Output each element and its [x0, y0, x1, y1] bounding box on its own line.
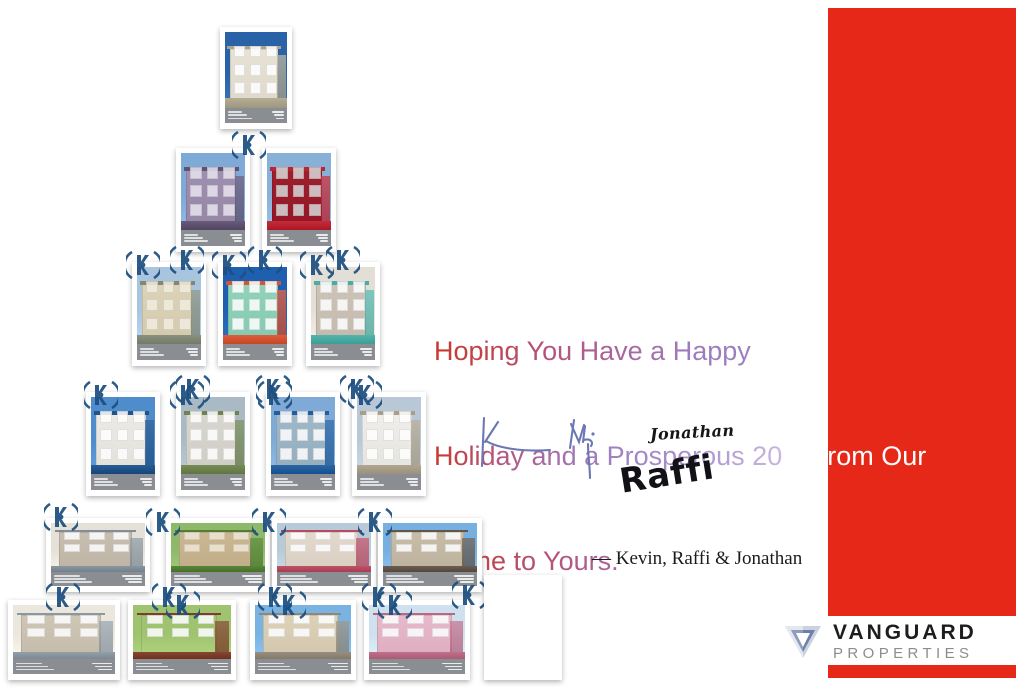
listing-info-bar — [357, 474, 421, 490]
listing-photo — [171, 523, 265, 572]
listing-address-lines — [226, 348, 250, 356]
listing-address-lines — [94, 478, 118, 486]
listing-brand-lines — [442, 663, 462, 671]
listing-info-bar — [181, 474, 245, 490]
listing-photo — [267, 153, 331, 230]
vanguard-emblem-icon — [358, 505, 392, 539]
listing-brand-lines — [328, 663, 348, 671]
listing-address-lines — [140, 348, 164, 356]
listing-photo — [225, 32, 287, 108]
vanguard-emblem-icon — [44, 500, 78, 534]
vanguard-emblem-icon — [378, 588, 412, 622]
listing-brand-lines — [92, 663, 112, 671]
listing-info-bar — [255, 659, 351, 674]
listing-address-lines — [184, 234, 208, 242]
listing-brand-lines — [320, 478, 332, 486]
listing-brand-lines — [230, 234, 242, 242]
listing-brand-lines — [122, 575, 142, 583]
greeting-line-2-red-part: 14 from Our — [782, 441, 926, 471]
listing-photo — [277, 523, 371, 572]
holiday-card-canvas: VANGUARD PROPERTIES Hoping You Have a Ha… — [0, 0, 1024, 698]
listing-address-lines — [314, 348, 338, 356]
vanguard-emblem-icon — [170, 243, 204, 277]
listing-brand-lines — [230, 478, 242, 486]
dog-photo-card — [484, 575, 562, 680]
listing-brand-lines — [272, 348, 284, 356]
listing-brand-lines — [186, 348, 198, 356]
vanguard-emblem-icon — [46, 580, 80, 614]
vanguard-emblem-icon — [170, 378, 204, 412]
listing-info-bar — [137, 344, 201, 360]
listing-address-lines — [184, 478, 208, 486]
listing-brand-lines — [316, 234, 328, 242]
vanguard-emblem-icon — [300, 248, 334, 282]
listing-address-lines — [270, 234, 294, 242]
vanguard-emblem-icon — [84, 378, 118, 412]
vanguard-emblem-icon — [146, 505, 180, 539]
listing-photo — [181, 153, 245, 230]
listing-info-bar — [271, 474, 335, 490]
vanguard-emblem-icon — [212, 248, 246, 282]
listing-info-bar — [311, 344, 375, 360]
listing-address-lines — [274, 478, 298, 486]
vanguard-emblem-icon — [232, 128, 266, 162]
vanguard-emblem-icon — [348, 378, 382, 412]
vanguard-emblem-icon — [272, 588, 306, 622]
listing-address-lines — [372, 663, 410, 671]
listing-brand-lines — [272, 111, 284, 119]
listing-address-lines — [136, 663, 174, 671]
listing-flyer-card — [176, 148, 250, 252]
listing-info-bar — [133, 659, 231, 674]
listing-brand-lines — [406, 478, 418, 486]
listing-info-bar — [225, 108, 287, 123]
listing-address-lines — [360, 478, 384, 486]
listing-info-bar — [369, 659, 465, 674]
vanguard-emblem-icon — [452, 578, 486, 612]
listing-address-lines — [258, 663, 296, 671]
attribution-line: — Kevin, Raffi & Jonathan — [592, 548, 802, 570]
vanguard-emblem-icon — [248, 243, 282, 277]
listing-photo — [383, 523, 477, 572]
vanguard-emblem-icon — [252, 505, 286, 539]
vanguard-emblem-icon — [126, 248, 160, 282]
vanguard-emblem-icon — [166, 588, 200, 622]
listing-brand-lines — [140, 478, 152, 486]
listing-flyer-card — [262, 148, 336, 252]
listing-brand-lines — [360, 348, 372, 356]
listing-info-bar — [13, 659, 115, 674]
listing-address-lines — [16, 663, 54, 671]
listing-brand-lines — [208, 663, 228, 671]
photo-tree — [0, 0, 620, 698]
listing-address-lines — [228, 111, 252, 119]
vanguard-emblem-icon — [258, 378, 292, 412]
listing-info-bar — [223, 344, 287, 360]
listing-flyer-card — [220, 27, 292, 129]
listing-info-bar — [91, 474, 155, 490]
